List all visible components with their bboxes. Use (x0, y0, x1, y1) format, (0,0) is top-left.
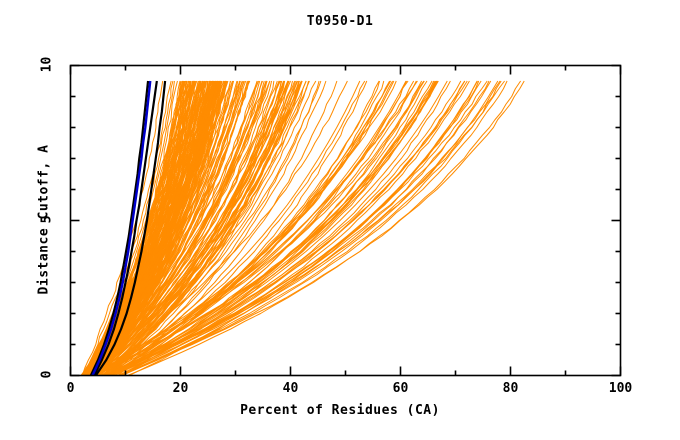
x-tick-label: 100 (601, 381, 641, 396)
y-tick-label: 10 (40, 53, 55, 75)
plot-canvas (0, 0, 680, 440)
y-tick-label: 0 (40, 363, 55, 385)
curve-group (81, 81, 524, 376)
x-tick-label: 0 (51, 381, 91, 396)
x-tick-label: 80 (491, 381, 531, 396)
x-tick-label: 60 (381, 381, 421, 396)
x-tick-label: 40 (271, 381, 311, 396)
chart-root: T0950-D1 Distance Cutoff, A Percent of R… (0, 0, 680, 440)
x-tick-label: 20 (161, 381, 201, 396)
y-tick-label: 5 (40, 208, 55, 230)
